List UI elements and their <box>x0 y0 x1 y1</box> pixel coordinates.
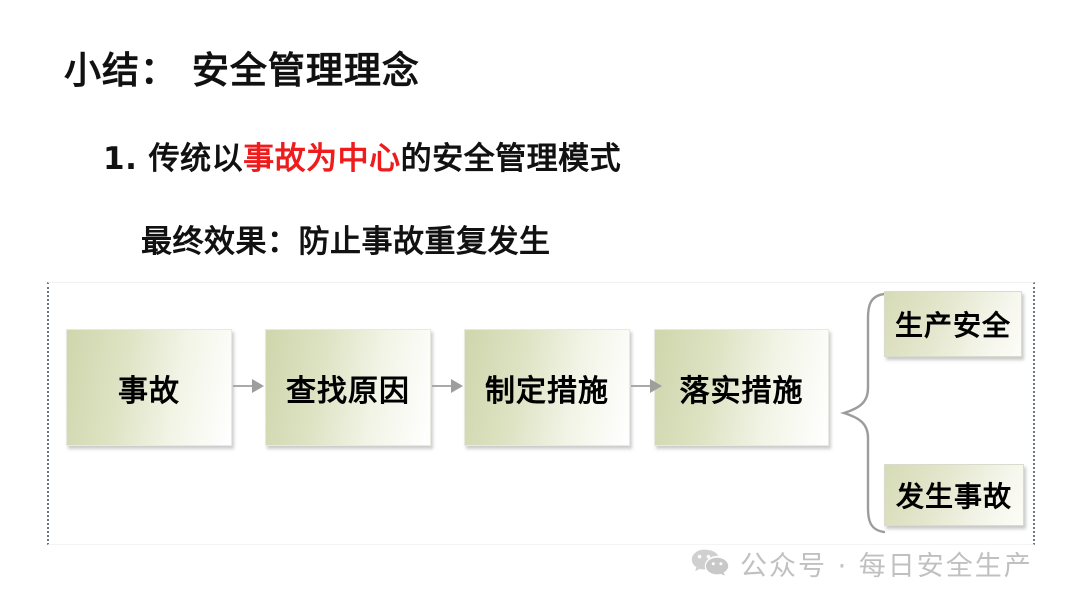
result-box-safe-production[interactable]: 生产安全 <box>884 291 1022 357</box>
subtitle-line-traditional-model: 1. 传统以事故为中心的安全管理模式 <box>103 133 621 178</box>
curly-brace-icon <box>840 290 886 536</box>
wechat-icon <box>691 548 729 580</box>
arrow-right-icon <box>631 378 662 394</box>
flow-box-make-measures[interactable]: 制定措施 <box>464 329 630 446</box>
subtitle-suffix: 的安全管理模式 <box>401 141 622 177</box>
arrow-head <box>650 379 662 393</box>
result-box-accident-occurs[interactable]: 发生事故 <box>884 464 1024 526</box>
watermark-text: 公众号 · 每日安全生产 <box>740 544 1033 583</box>
flow-box-find-cause[interactable]: 查找原因 <box>265 329 431 446</box>
arrow-head <box>451 379 463 393</box>
arrow-right-icon <box>432 378 463 394</box>
arrow-right-icon <box>233 378 264 394</box>
subtitle-prefix: 1. 传统以 <box>103 141 243 177</box>
watermark: 公众号 · 每日安全生产 <box>691 544 1033 583</box>
subtitle-line-final-effect: 最终效果：防止事故重复发生 <box>141 216 551 261</box>
subtitle-accent: 事故为中心 <box>243 141 401 177</box>
page-title: 小结： 安全管理理念 <box>64 40 420 94</box>
flow-box-apply-measures[interactable]: 落实措施 <box>654 329 829 446</box>
arrow-head <box>252 379 264 393</box>
flow-box-accident[interactable]: 事故 <box>66 329 232 446</box>
